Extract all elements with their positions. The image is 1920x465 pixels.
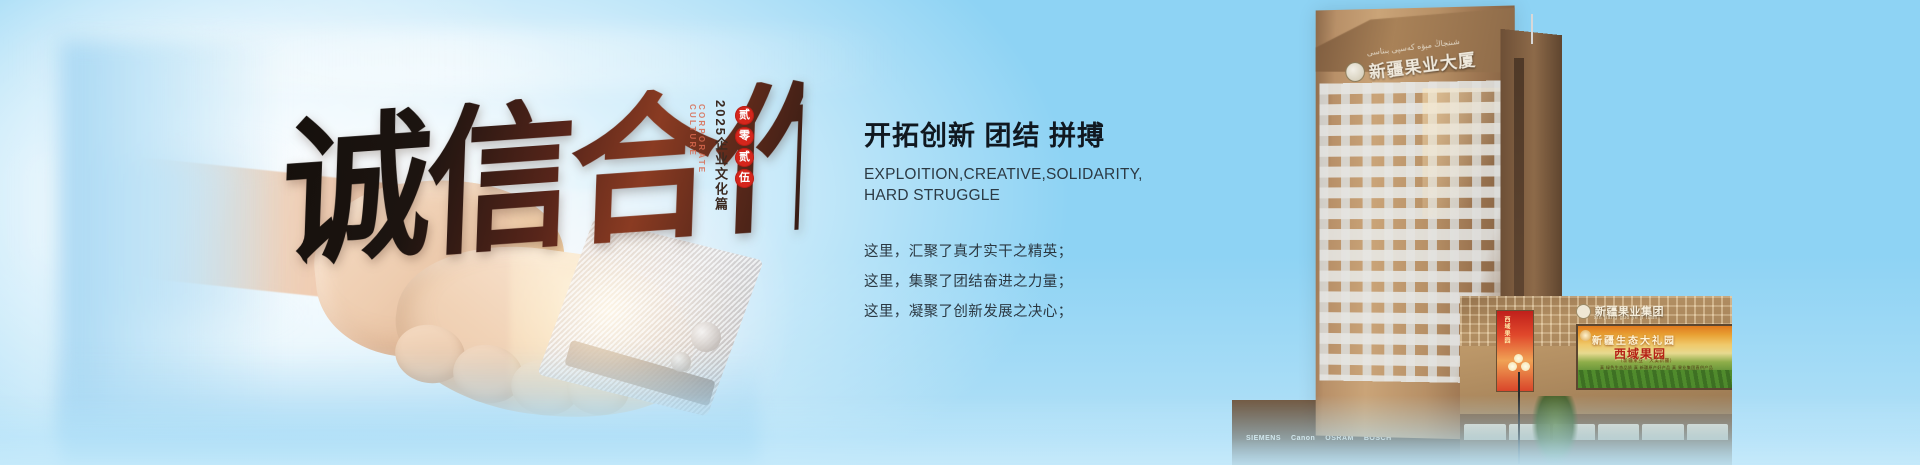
vertical-caption-column: CORPORATE CULTURE 2025企业文化篇 贰 零 贰 伍: [688, 100, 754, 230]
building-bottom-fade: [1232, 438, 1732, 465]
billboard-field-artwork: [1578, 370, 1732, 388]
slogan-subhead: EXPLOITION,CREATIVE,SOLIDARITY, HARD STR…: [864, 165, 1164, 207]
seal-stamp-icon: 贰: [735, 106, 754, 125]
tower-side-strip-shape: [1514, 58, 1524, 333]
vertical-poster-banner: 西域果园: [1496, 310, 1534, 392]
street-lamp-head: [1508, 362, 1530, 374]
lamp-bulb-icon: [1514, 354, 1523, 363]
slogan-paragraph: 这里，凝聚了创新发展之决心；: [864, 297, 1164, 327]
vertical-chinese-label: 2025企业文化篇: [711, 100, 730, 212]
slogan-paragraph: 这里，集聚了团结奋进之力量；: [864, 267, 1164, 297]
slogan-headline: 开拓创新 团结 拼搏: [864, 122, 1164, 152]
headquarters-building-photo: SIEMENS Canon OSRAM BOSCH 新疆果业大厦 شىنجاڭ …: [1232, 0, 1732, 465]
group-logo-icon: [1576, 304, 1591, 319]
slogan-paragraph-list: 这里，汇聚了真才实干之精英； 这里，集聚了团结奋进之力量； 这里，凝聚了创新发展…: [864, 237, 1164, 327]
billboard-logo-icon: [1580, 330, 1591, 341]
slogan-paragraph: 这里，汇聚了真才实干之精英；: [864, 237, 1164, 267]
corporate-culture-banner: 诚信合作 CORPORATE CULTURE 2025企业文化篇 贰 零 贰 伍…: [0, 0, 1920, 465]
photo-fade-bottom: [60, 350, 760, 465]
poster-text: 西域果园: [1502, 316, 1511, 344]
rooftop-antenna-icon: [1531, 14, 1533, 44]
slogan-subhead-line-2: HARD STRUGGLE: [864, 186, 1164, 207]
lamp-bulb-icon: [1521, 362, 1530, 371]
seal-stamp-icon: 伍: [735, 169, 754, 188]
slogan-text-block: 开拓创新 团结 拼搏 EXPLOITION,CREATIVE,SOLIDARIT…: [864, 122, 1164, 327]
vertical-english-label: CORPORATE CULTURE: [688, 104, 706, 230]
tower-window-glow: [1422, 88, 1512, 219]
seal-stamp-icon: 零: [735, 127, 754, 146]
lamp-bulb-icon: [1508, 362, 1517, 371]
podium-sign-pinyin: xin jiang guo ye ji tuan: [1594, 315, 1658, 321]
slogan-subhead-line-1: EXPLOITION,CREATIVE,SOLIDARITY,: [864, 165, 1164, 186]
company-logo-icon: [1344, 61, 1366, 83]
seal-stamp-group: 贰 零 贰 伍: [735, 106, 754, 188]
billboard-subtitle: （新疆果业 · 大美新疆）: [1618, 358, 1675, 364]
led-billboard: 新疆生态大礼园 西域果园 （新疆果业 · 大美新疆） 真 绿色生态品质 真 新疆…: [1576, 324, 1732, 390]
seal-stamp-icon: 贰: [735, 148, 754, 167]
podium-signage: 新疆果业集团 xin jiang guo ye ji tuan: [1576, 302, 1726, 320]
